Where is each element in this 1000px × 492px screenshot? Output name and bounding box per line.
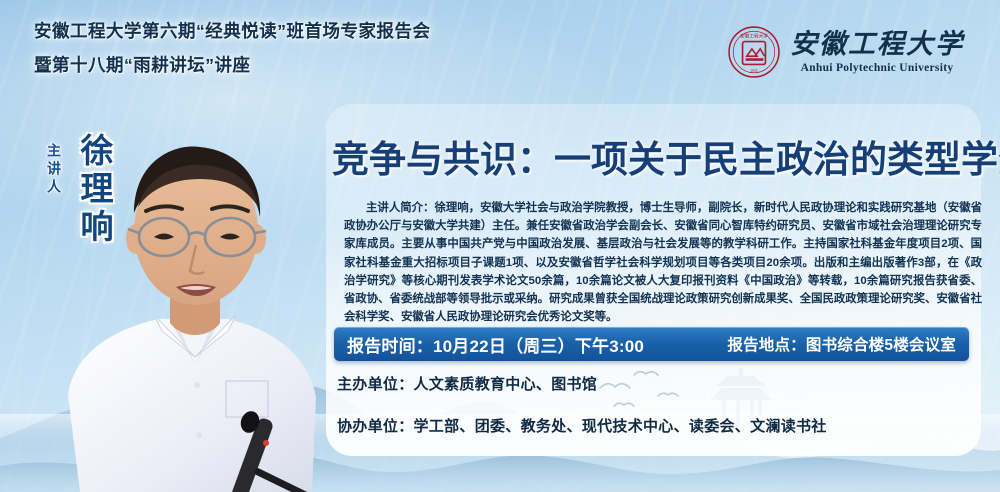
svg-text:1935: 1935 xyxy=(750,69,757,73)
organizers-block: 主办单位：人文素质教育中心、图书馆 协办单位：学工部、团委、教务处、现代技术中心… xyxy=(337,373,827,436)
event-location: 报告地点：图书综合楼5楼会议室 xyxy=(727,333,956,355)
speaker-bio: 主讲人简介：徐理响，安徽大学社会与政治学院教授，博士生导师，副院长，新时代人民政… xyxy=(344,199,982,326)
speaker-label: 主讲人 徐理响 xyxy=(44,133,118,247)
logo-name-en: Anhui Polytechnic University xyxy=(801,62,954,74)
page-title: 竞争与共识：一项关于民主政治的类型学分析 xyxy=(332,129,978,183)
cohost-organizers: 协办单位：学工部、团委、教务处、现代技术中心、读委会、文澜读书社 xyxy=(337,415,827,436)
speaker-role-label: 主讲人 xyxy=(44,143,64,197)
host-organizers: 主办单位：人文素质教育中心、图书馆 xyxy=(337,373,827,394)
header-line-2: 暨第十八期“雨耕讲坛”讲座 xyxy=(34,56,431,75)
header-line-1: 安徽工程大学第六期“经典悦读”班首场专家报告会 xyxy=(34,22,431,41)
poster-header: 安徽工程大学第六期“经典悦读”班首场专家报告会 暨第十八期“雨耕讲坛”讲座 xyxy=(34,22,431,76)
bio-text: 主讲人简介：徐理响，安徽大学社会与政治学院教授，博士生导师，副院长，新时代人民政… xyxy=(344,202,982,323)
poster-root: 安徽工程大学第六期“经典悦读”班首场专家报告会 暨第十八期“雨耕讲坛”讲座 安徽… xyxy=(0,0,1000,492)
university-seal-icon: 安徽工程大学 1935 xyxy=(728,26,780,78)
speaker-name: 徐理响 xyxy=(70,133,118,247)
university-logo: 安徽工程大学 1935 安徽工程大学 Anhui Polytechnic Uni… xyxy=(728,26,964,78)
logo-name-cn: 安徽工程大学 xyxy=(790,31,964,58)
event-time: 报告时间：10月22日（周三）下午3:00 xyxy=(347,332,644,357)
event-info-banner: 报告时间：10月22日（周三）下午3:00 报告地点：图书综合楼5楼会议室 xyxy=(334,327,969,361)
